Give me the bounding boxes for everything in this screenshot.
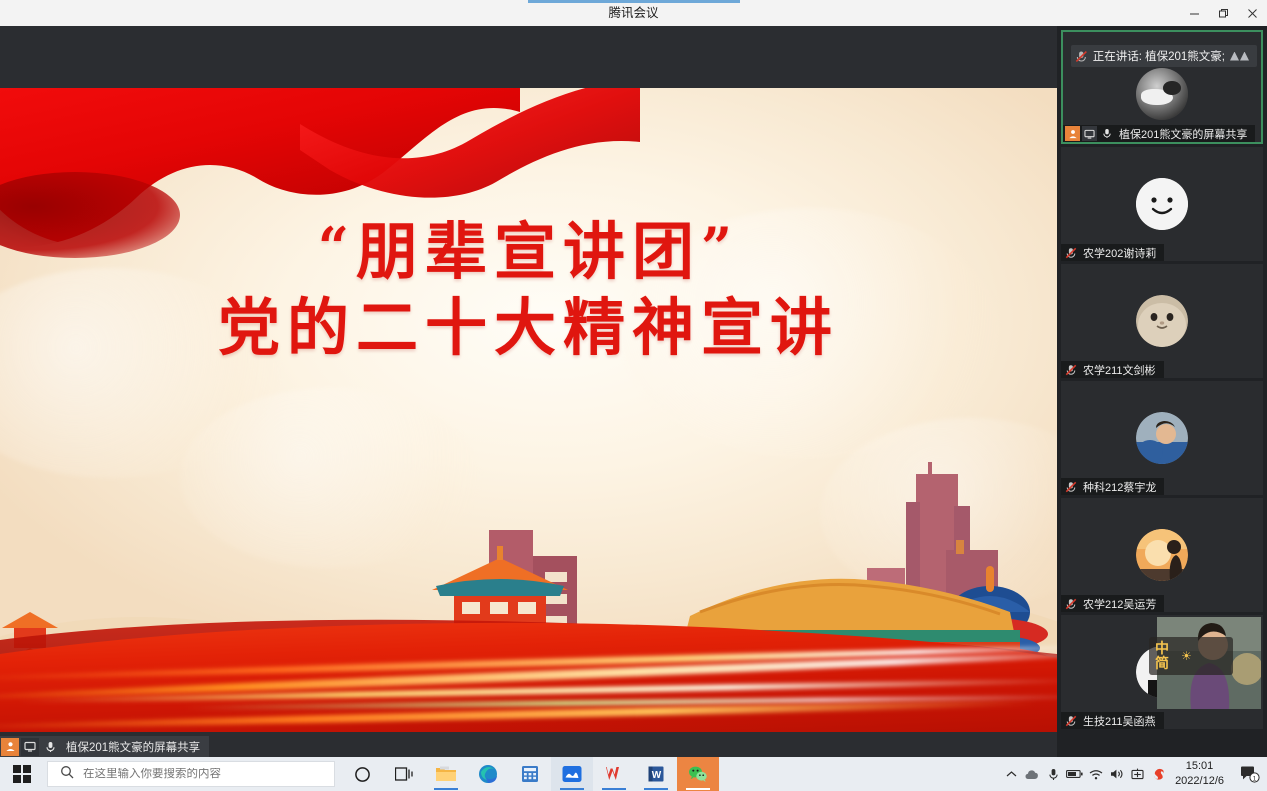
- taskbar-app-calculator[interactable]: [509, 757, 551, 791]
- ime-extra-icon: ☀: [1181, 649, 1192, 663]
- participant-label: 生技211吴函燕: [1061, 712, 1164, 729]
- avatar: [1136, 178, 1188, 230]
- light-streaks: [0, 636, 1057, 732]
- participant-tile[interactable]: 农学211文剑彬: [1061, 264, 1263, 378]
- screen-share-statusbar: 植保201熊文豪的屏幕共享: [0, 736, 1057, 757]
- participant-rail[interactable]: 正在讲话: 植保201熊文豪; 植保201熊文豪的屏幕共享: [1057, 26, 1267, 757]
- minimize-button[interactable]: [1180, 0, 1209, 26]
- ime-icon[interactable]: [1127, 757, 1148, 791]
- participant-name: 种科212蔡宇龙: [1083, 479, 1156, 495]
- muted-mic-icon: [1063, 362, 1078, 377]
- wifi-icon[interactable]: [1085, 757, 1106, 791]
- speaking-banner-text: 正在讲话: 植保201熊文豪;: [1093, 48, 1225, 64]
- participant-name: 植保201熊文豪的屏幕共享: [1119, 126, 1247, 142]
- participant-tile[interactable]: 农学212吴运芳: [1061, 498, 1263, 612]
- svg-text:W: W: [652, 770, 662, 781]
- taskbar-app-file-explorer[interactable]: [425, 757, 467, 791]
- monitor-icon: [1082, 126, 1097, 141]
- speaking-banner: 正在讲话: 植保201熊文豪;: [1071, 45, 1257, 67]
- muted-mic-icon: [1063, 713, 1078, 728]
- windows-taskbar: W: [0, 757, 1267, 791]
- participant-tile-video[interactable]: 中 简 ☀ 生技211吴函燕: [1061, 615, 1263, 729]
- notification-center-button[interactable]: 1: [1233, 757, 1267, 791]
- search-box[interactable]: [47, 761, 335, 787]
- muted-mic-icon: [1075, 50, 1088, 63]
- participant-tile[interactable]: 种科212蔡宇龙: [1061, 381, 1263, 495]
- taskbar-apps: W: [341, 757, 719, 791]
- person-icon: [1065, 126, 1080, 141]
- avatar: [1136, 529, 1188, 581]
- participant-name: 农学211文剑彬: [1083, 362, 1156, 378]
- participant-label: 植保201熊文豪的屏幕共享: [1063, 125, 1255, 142]
- window-titlebar: 腾讯会议: [0, 0, 1267, 26]
- shared-slide[interactable]: “朋辈宣讲团” 党的二十大精神宣讲: [0, 88, 1057, 732]
- muted-mic-icon: [1063, 245, 1078, 260]
- ime-mode-line1: 中: [1155, 641, 1169, 656]
- taskbar-app-cortana[interactable]: [341, 757, 383, 791]
- window-title: 腾讯会议: [0, 0, 1267, 26]
- volume-icon[interactable]: [1106, 757, 1127, 791]
- participant-label: 农学212吴运芳: [1061, 595, 1164, 612]
- taskbar-app-wps-office[interactable]: [593, 757, 635, 791]
- participant-name: 生技211吴函燕: [1083, 713, 1156, 729]
- participant-tile[interactable]: 农学202谢诗莉: [1061, 147, 1263, 261]
- clock-date: 2022/12/6: [1175, 774, 1224, 789]
- participant-label: 农学211文剑彬: [1061, 361, 1164, 378]
- ime-mode-line2: 简: [1155, 656, 1169, 671]
- search-icon: [60, 765, 74, 784]
- avatar: [1136, 412, 1188, 464]
- window-controls: [1180, 0, 1267, 26]
- taskbar-app-microsoft-edge[interactable]: [467, 757, 509, 791]
- taskbar-clock[interactable]: 15:01 2022/12/6: [1169, 759, 1233, 788]
- search-input[interactable]: [83, 768, 313, 780]
- participant-tile-speaking[interactable]: 正在讲话: 植保201熊文豪; 植保201熊文豪的屏幕共享: [1061, 30, 1263, 144]
- skyline-illustration: [0, 462, 1057, 732]
- system-tray: 15:01 2022/12/6 1: [1001, 757, 1267, 791]
- battery-icon[interactable]: [1064, 757, 1085, 791]
- monitor-icon: [21, 738, 39, 756]
- participant-name: 农学202谢诗莉: [1083, 245, 1156, 261]
- taskbar-app-wechat[interactable]: [677, 757, 719, 791]
- screen-share-chip[interactable]: 植保201熊文豪的屏幕共享: [0, 736, 209, 757]
- microphone-icon: [41, 738, 59, 756]
- muted-mic-icon: [1063, 479, 1078, 494]
- start-button[interactable]: [0, 757, 44, 791]
- show-hidden-icons-icon[interactable]: [1001, 757, 1022, 791]
- meeting-window: “朋辈宣讲团” 党的二十大精神宣讲: [0, 26, 1267, 757]
- notification-badge-count: 1: [1253, 775, 1257, 782]
- avatar: [1136, 295, 1188, 347]
- clock-time: 15:01: [1175, 759, 1224, 774]
- participant-name: 农学212吴运芳: [1083, 596, 1156, 612]
- participant-label: 农学202谢诗莉: [1061, 244, 1164, 261]
- ime-overlay: 中 简 ☀: [1149, 637, 1233, 675]
- audio-wave-icon: [1230, 52, 1249, 61]
- microphone-icon: [1099, 126, 1114, 141]
- maximize-button[interactable]: [1209, 0, 1238, 26]
- muted-mic-icon: [1063, 596, 1078, 611]
- screen-share-label: 植保201熊文豪的屏幕共享: [66, 739, 200, 755]
- shared-screen-stage: “朋辈宣讲团” 党的二十大精神宣讲: [0, 26, 1057, 757]
- sogou-icon[interactable]: [1148, 757, 1169, 791]
- person-icon: [1, 738, 19, 756]
- onedrive-icon[interactable]: [1022, 757, 1043, 791]
- taskbar-app-microsoft-word[interactable]: W: [635, 757, 677, 791]
- avatar: [1136, 68, 1188, 120]
- taskbar-app-tencent-meeting[interactable]: [551, 757, 593, 791]
- microphone-icon[interactable]: [1043, 757, 1064, 791]
- participant-label: 种科212蔡宇龙: [1061, 478, 1164, 495]
- close-button[interactable]: [1238, 0, 1267, 26]
- taskbar-app-task-view[interactable]: [383, 757, 425, 791]
